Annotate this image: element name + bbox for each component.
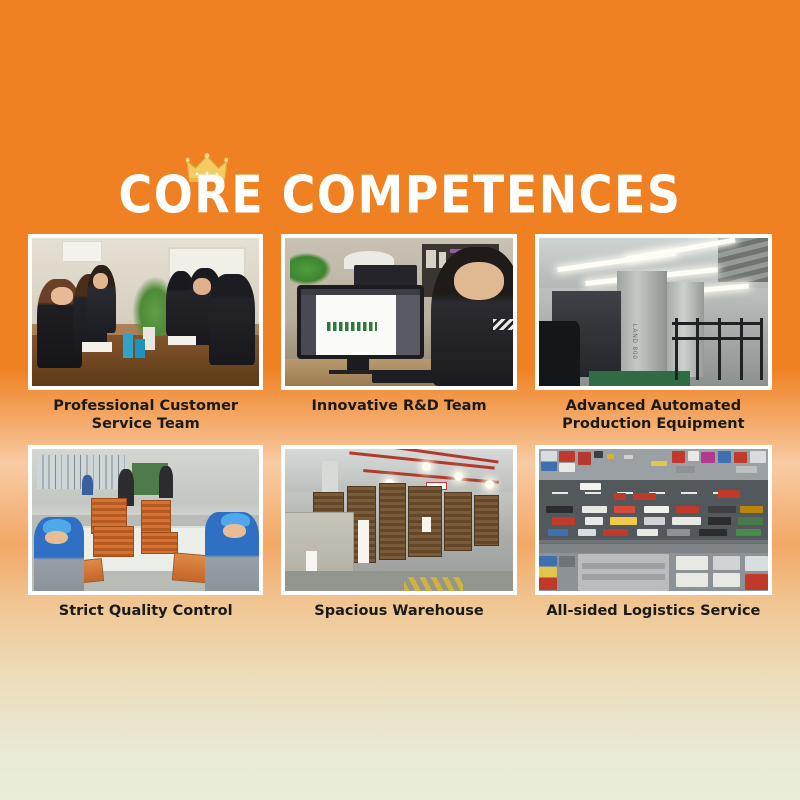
quality-inspection-photo [28,445,263,595]
meeting-room-photo [28,234,263,390]
competences-grid: Professional Customer Service Team [28,234,772,620]
caption-line: Innovative R&D Team [281,397,516,415]
printing-press-photo: LAND 800 [535,234,772,390]
card-caption: All-sided Logistics Service [535,602,772,620]
card-caption: Professional Customer Service Team [28,397,263,433]
card-spacious-warehouse[interactable]: Spacious Warehouse [281,445,516,620]
aerial-container-port-photo [535,445,772,595]
card-professional-customer-service-team[interactable]: Professional Customer Service Team [28,234,263,433]
caption-line: Production Equipment [535,415,772,433]
grid-row-bottom: Strict Quality Control [28,445,772,620]
machine-label: LAND 800 [631,324,637,360]
card-caption: Innovative R&D Team [281,397,516,415]
caption-line: Advanced Automated [535,397,772,415]
grid-row-top: Professional Customer Service Team [28,234,772,433]
card-advanced-automated-production-equipment[interactable]: LAND 800 Advanced Automated Production E… [535,234,772,433]
page-header: CORE COMPETENCES [0,150,800,213]
caption-line: Professional Customer [28,397,263,415]
card-caption: Advanced Automated Production Equipment [535,397,772,433]
caption-line: All-sided Logistics Service [535,602,772,620]
designer-at-monitor-photo [281,234,516,390]
card-caption: Strict Quality Control [28,602,263,620]
warehouse-pallets-photo [281,445,516,595]
card-caption: Spacious Warehouse [281,602,516,620]
card-innovative-rd-team[interactable]: Innovative R&D Team [281,234,516,433]
page-title: CORE COMPETENCES [118,150,681,221]
card-strict-quality-control[interactable]: Strict Quality Control [28,445,263,620]
caption-line: Strict Quality Control [28,602,263,620]
card-all-sided-logistics-service[interactable]: All-sided Logistics Service [535,445,772,620]
caption-line: Spacious Warehouse [281,602,516,620]
caption-line: Service Team [28,415,263,433]
